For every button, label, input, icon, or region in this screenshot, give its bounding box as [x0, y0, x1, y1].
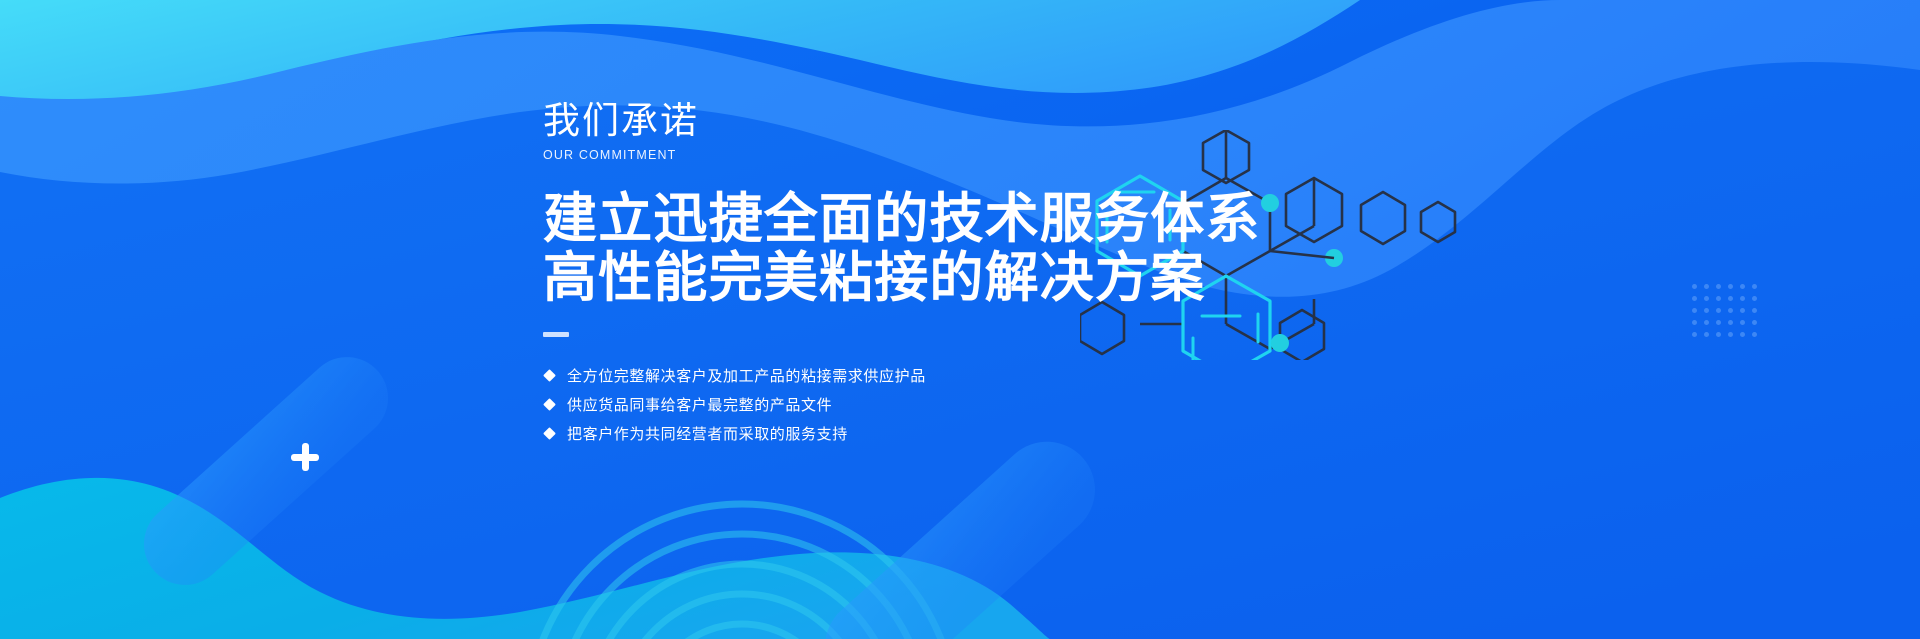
list-item-label: 把客户作为共同经营者而采取的服务支持 — [567, 423, 848, 444]
diamond-icon — [543, 369, 556, 382]
list-item: 供应货品同事给客户最完整的产品文件 — [543, 390, 1343, 419]
grid-dot — [1692, 332, 1697, 337]
grid-dot — [1692, 284, 1697, 289]
grid-dot — [1716, 284, 1721, 289]
bullet-list: 全方位完整解决客户及加工产品的粘接需求供应护品 供应货品同事给客户最完整的产品文… — [543, 361, 1343, 448]
list-item-label: 供应货品同事给客户最完整的产品文件 — [567, 394, 832, 415]
grid-dot — [1704, 332, 1709, 337]
grid-dot — [1692, 320, 1697, 325]
eyebrow-title-en: OUR COMMITMENT — [543, 146, 1343, 164]
diamond-icon — [543, 398, 556, 411]
grid-dot — [1704, 320, 1709, 325]
list-item-label: 全方位完整解决客户及加工产品的粘接需求供应护品 — [567, 365, 926, 386]
diamond-icon — [543, 427, 556, 440]
grid-dot — [1692, 296, 1697, 301]
headline-line-1: 建立迅捷全面的技术服务体系 — [543, 190, 1343, 249]
headline: 建立迅捷全面的技术服务体系 高性能完美粘接的解决方案 — [543, 190, 1343, 308]
grid-dot — [1752, 332, 1757, 337]
grid-dot — [1728, 320, 1733, 325]
grid-dot — [1704, 284, 1709, 289]
eyebrow-title-cn: 我们承诺 — [543, 98, 1343, 144]
plus-horizontal-bar — [291, 454, 319, 461]
promo-banner: 我们承诺 OUR COMMITMENT 建立迅捷全面的技术服务体系 高性能完美粘… — [0, 0, 1920, 639]
grid-dot — [1704, 296, 1709, 301]
grid-dot — [1716, 332, 1721, 337]
plus-icon — [291, 443, 319, 471]
grid-dot — [1728, 296, 1733, 301]
grid-dot — [1740, 308, 1745, 313]
grid-dot — [1692, 308, 1697, 313]
grid-dot — [1728, 308, 1733, 313]
grid-dot — [1716, 308, 1721, 313]
grid-dot — [1740, 332, 1745, 337]
divider-rule — [543, 332, 569, 337]
list-item: 全方位完整解决客户及加工产品的粘接需求供应护品 — [543, 361, 1343, 390]
grid-dot — [1728, 332, 1733, 337]
list-item: 把客户作为共同经营者而采取的服务支持 — [543, 419, 1343, 448]
grid-dot — [1752, 284, 1757, 289]
headline-line-2: 高性能完美粘接的解决方案 — [543, 249, 1343, 308]
banner-content: 我们承诺 OUR COMMITMENT 建立迅捷全面的技术服务体系 高性能完美粘… — [543, 98, 1343, 448]
grid-dot — [1752, 320, 1757, 325]
grid-dot — [1752, 296, 1757, 301]
dot-grid — [1692, 284, 1764, 342]
grid-dot — [1716, 320, 1721, 325]
grid-dot — [1740, 296, 1745, 301]
grid-dot — [1704, 308, 1709, 313]
grid-dot — [1740, 284, 1745, 289]
grid-dot — [1728, 284, 1733, 289]
grid-dot — [1716, 296, 1721, 301]
grid-dot — [1752, 308, 1757, 313]
grid-dot — [1740, 320, 1745, 325]
